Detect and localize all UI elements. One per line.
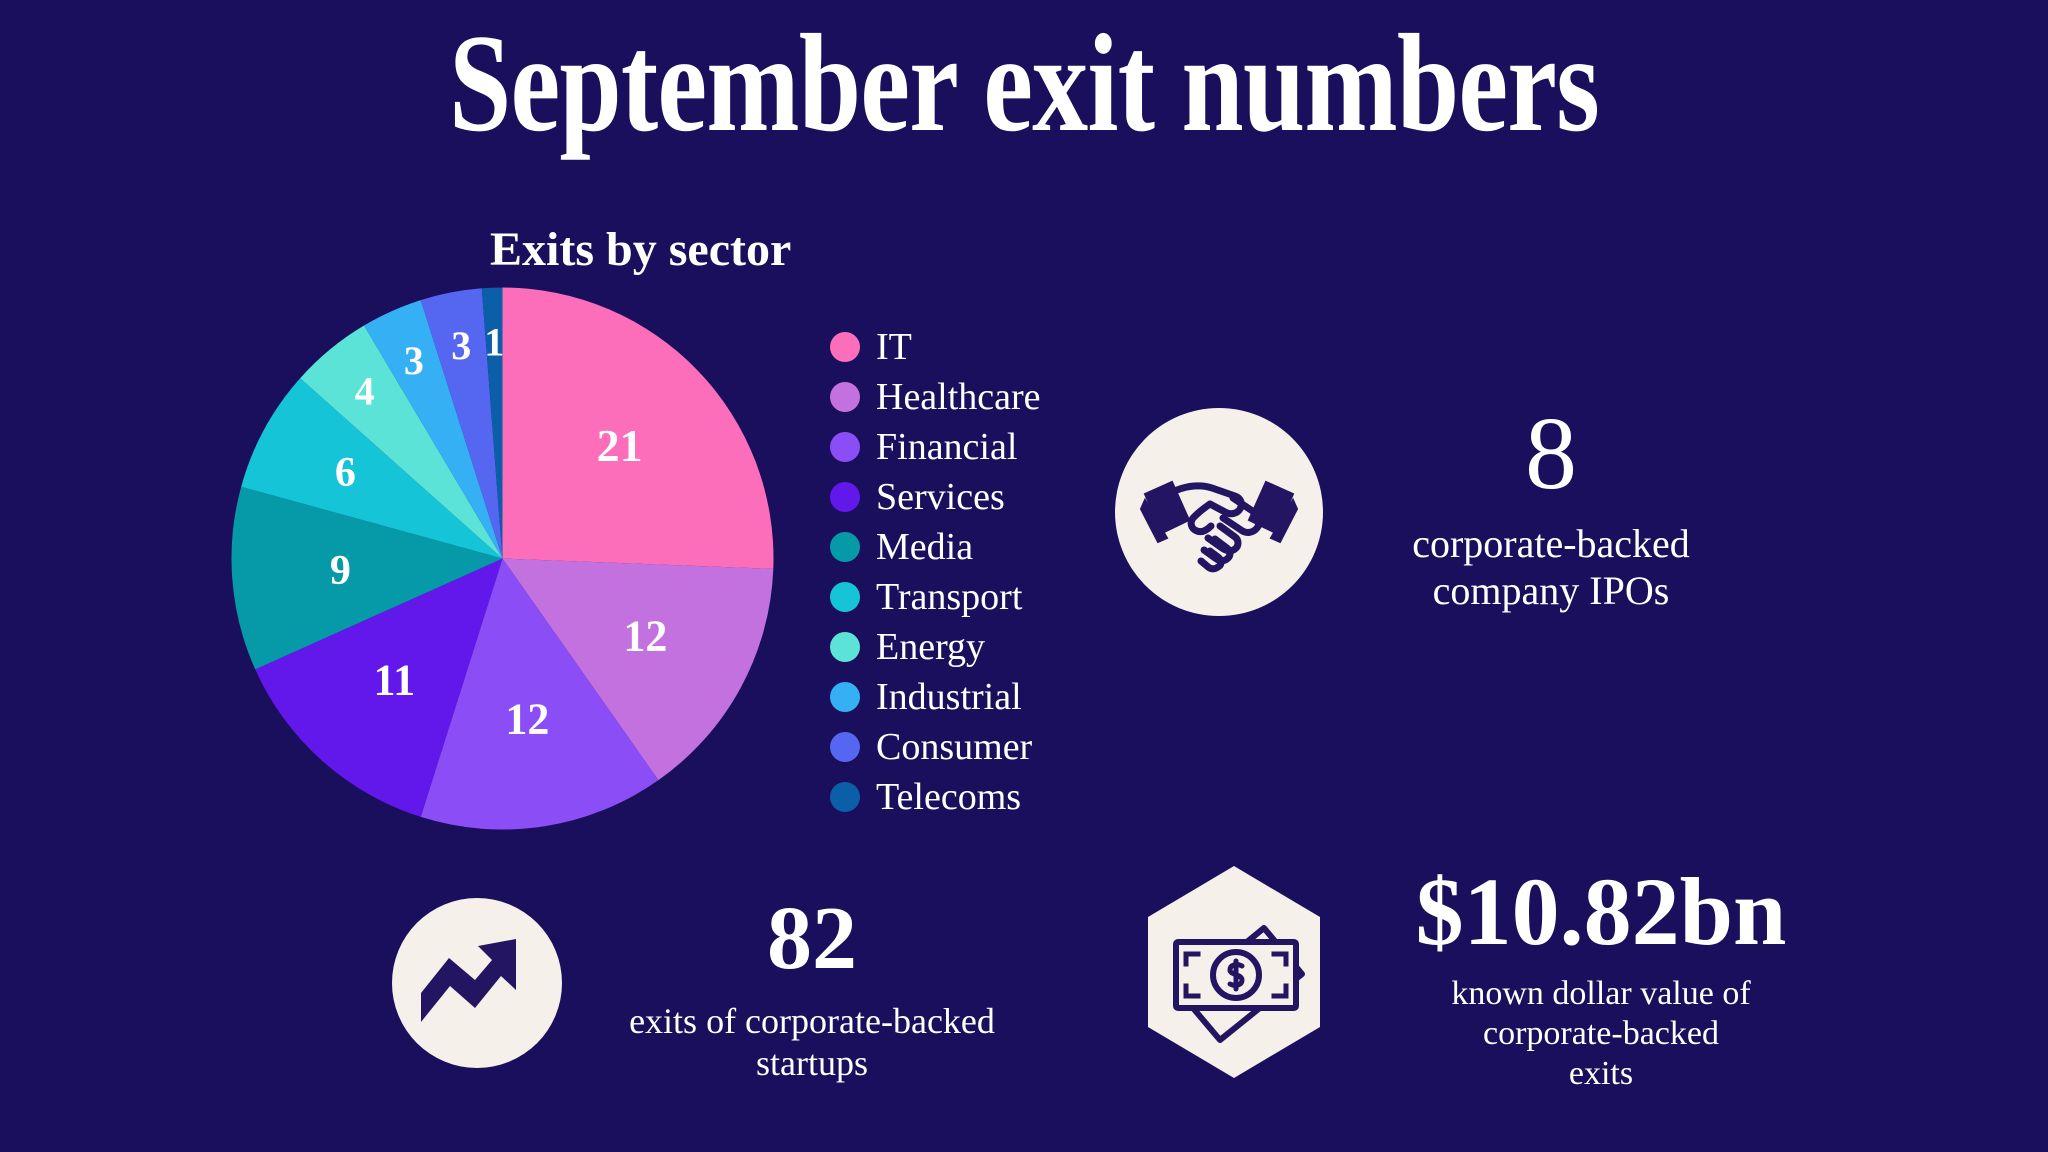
page-title: September exit numbers [205,14,1843,154]
stat-caption-line: company IPOs [1351,567,1751,614]
legend-color-swatch [830,432,860,462]
legend-color-swatch [830,482,860,512]
stat-number-value: $10.82bn [1366,864,1836,960]
stat-caption-line: exits [1366,1054,1836,1094]
legend-color-swatch [830,782,860,812]
pie-chart-svg: 21121211964331 [230,286,775,831]
legend-item[interactable]: Telecoms [830,772,1090,822]
chart-legend: ITHealthcareFinancialServicesMediaTransp… [830,322,1090,822]
stat-caption-exits: exits of corporate-backed startups [592,1000,1032,1085]
pie-chart: 21121211964331 [230,286,775,831]
stat-text-ipos: 8 corporate-backed company IPOs [1351,408,1751,614]
legend-item[interactable]: Services [830,472,1090,522]
legend-item[interactable]: Consumer [830,722,1090,772]
stat-caption-line: exits of corporate-backed [592,1000,1032,1042]
pie-slice-value: 4 [355,369,375,414]
legend-item-label: Financial [876,428,1017,466]
legend-item[interactable]: Energy [830,622,1090,672]
pie-slice-value: 21 [597,420,643,471]
chart-subtitle: Exits by sector [490,222,791,277]
pie-slice-value: 11 [374,655,416,704]
legend-color-swatch [830,682,860,712]
stat-caption-line: corporate-backed [1351,520,1751,567]
legend-item-label: Media [876,528,973,566]
legend-item[interactable]: IT [830,322,1090,372]
pie-slice-value: 1 [484,319,504,364]
pie-slice-value: 3 [451,323,471,368]
legend-item-label: Industrial [876,678,1022,716]
pie-chart-panel: Exits by sector 21121211964331 ITHealthc… [230,222,1010,802]
legend-item-label: Healthcare [876,378,1041,416]
trending-up-icon [392,898,562,1068]
stat-text-exits: 82 exits of corporate-backed startups [592,898,1032,1085]
legend-item[interactable]: Transport [830,572,1090,622]
stat-corporate-backed-ipos: 8 corporate-backed company IPOs [1115,408,1751,616]
legend-item-label: Energy [876,628,985,666]
banknotes-icon [1124,862,1344,1082]
legend-color-swatch [830,382,860,412]
handshake-icon [1115,408,1323,616]
pie-slice-value: 6 [335,450,356,496]
pie-slices [232,288,774,830]
pie-slice-value: 3 [404,338,424,383]
stat-known-dollar-value: $10.82bn known dollar value of corporate… [1124,862,1836,1094]
stat-caption-line: corporate-backed [1366,1014,1836,1054]
legend-item[interactable]: Healthcare [830,372,1090,422]
stat-caption-value: known dollar value of corporate-backed e… [1366,974,1836,1094]
infographic-page: September exit numbers Exits by sector 2… [0,0,2048,1152]
stat-caption-line: known dollar value of [1366,974,1836,1014]
legend-color-swatch [830,532,860,562]
legend-item[interactable]: Industrial [830,672,1090,722]
legend-color-swatch [830,632,860,662]
legend-item-label: Telecoms [876,778,1021,816]
stat-corporate-backed-exits: 82 exits of corporate-backed startups [392,898,1032,1085]
pie-slice-value: 9 [330,548,351,594]
stat-text-value: $10.82bn known dollar value of corporate… [1366,862,1836,1094]
legend-color-swatch [830,332,860,362]
legend-item-label: Services [876,478,1005,516]
legend-item-label: IT [876,328,912,366]
stat-number-ipos: 8 [1351,402,1751,506]
legend-item-label: Transport [876,578,1022,616]
legend-item-label: Consumer [876,728,1032,766]
stat-number-exits: 82 [592,894,1032,984]
legend-item[interactable]: Media [830,522,1090,572]
legend-item[interactable]: Financial [830,422,1090,472]
stat-caption-ipos: corporate-backed company IPOs [1351,520,1751,614]
pie-slice-value: 12 [623,612,667,661]
legend-color-swatch [830,732,860,762]
pie-slice-value: 12 [505,695,549,744]
stat-caption-line: startups [592,1042,1032,1084]
legend-color-swatch [830,582,860,612]
